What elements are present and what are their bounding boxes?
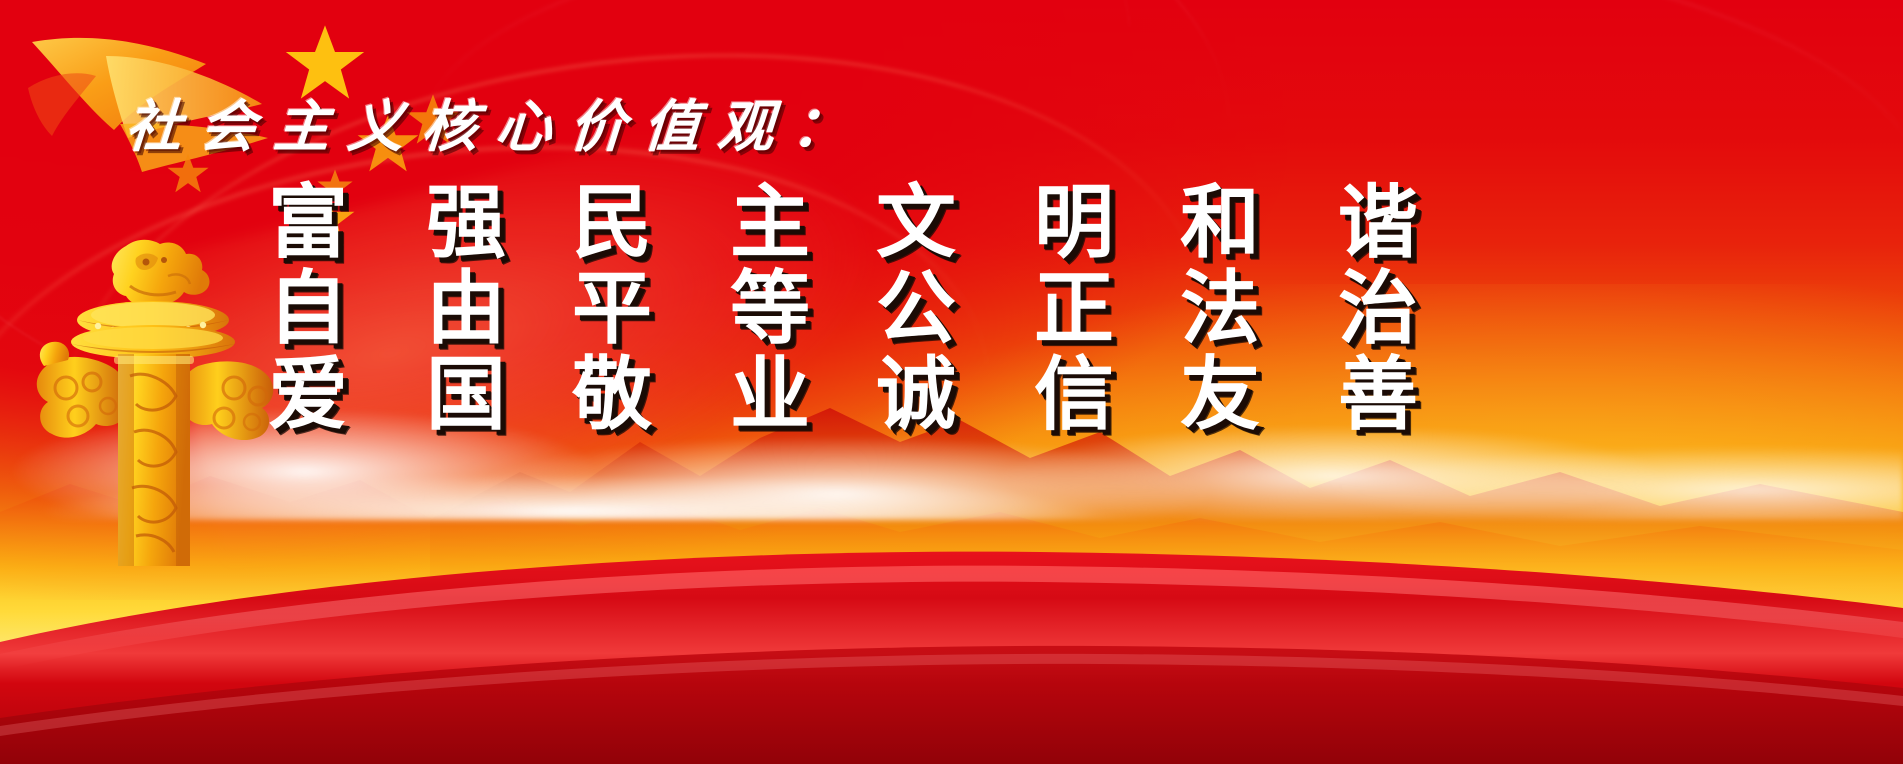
value-pair-fuqiang: 富 强 — [268, 183, 506, 263]
value-char: 诚 — [876, 355, 956, 435]
value-pair-chengxin: 诚 信 — [876, 355, 1114, 435]
core-values-row-2: 自 由 平 等 公 正 法 治 — [268, 266, 1418, 352]
value-pair-youshan: 友 善 — [1180, 355, 1418, 435]
value-pair-minzhu: 民 主 — [572, 183, 810, 263]
value-char: 友 — [1180, 355, 1260, 435]
value-pair-aiguo: 爱 国 — [268, 355, 506, 435]
red-ribbon-wave — [0, 504, 1903, 764]
cloud-wing-right — [181, 361, 274, 440]
value-pair-fazhi: 法 治 — [1180, 269, 1418, 349]
core-values-row-1: 富 强 民 主 文 明 和 谐 — [268, 180, 1418, 266]
page-title: 社会主义核心价值观： — [123, 82, 869, 163]
value-char: 业 — [730, 355, 810, 435]
value-char: 等 — [730, 269, 810, 349]
value-pair-jingye: 敬 业 — [572, 355, 810, 435]
ribbon-icon — [0, 504, 1903, 764]
value-char: 平 — [572, 269, 652, 349]
value-char: 由 — [426, 269, 506, 349]
value-pair-wenming: 文 明 — [876, 183, 1114, 263]
value-char: 明 — [1034, 183, 1114, 263]
value-char: 主 — [730, 183, 810, 263]
value-pair-ziyou: 自 由 — [268, 269, 506, 349]
value-pair-hexie: 和 谐 — [1180, 183, 1418, 263]
value-pair-gongzheng: 公 正 — [876, 269, 1114, 349]
value-char: 谐 — [1338, 183, 1418, 263]
value-char: 富 — [268, 183, 348, 263]
core-values-grid: 富 强 民 主 文 明 和 谐 自 由 平 等 — [268, 180, 1418, 438]
value-char: 国 — [426, 355, 506, 435]
value-char: 敬 — [572, 355, 652, 435]
value-char: 公 — [876, 269, 956, 349]
value-char: 爱 — [268, 355, 348, 435]
mythical-beast-icon — [112, 240, 210, 306]
value-char: 民 — [572, 183, 652, 263]
propaganda-banner: 社会主义核心价值观： 富 强 民 主 文 明 和 谐 自 由 — [0, 0, 1903, 764]
value-char: 正 — [1034, 269, 1114, 349]
value-char: 强 — [426, 183, 506, 263]
value-char: 善 — [1338, 355, 1418, 435]
value-char: 和 — [1180, 183, 1260, 263]
value-char: 信 — [1034, 355, 1114, 435]
value-char: 自 — [268, 269, 348, 349]
value-char: 治 — [1338, 269, 1418, 349]
value-char: 法 — [1180, 269, 1260, 349]
value-char: 文 — [876, 183, 956, 263]
core-values-row-3: 爱 国 敬 业 诚 信 友 善 — [268, 352, 1418, 438]
value-pair-pingdeng: 平 等 — [572, 269, 810, 349]
